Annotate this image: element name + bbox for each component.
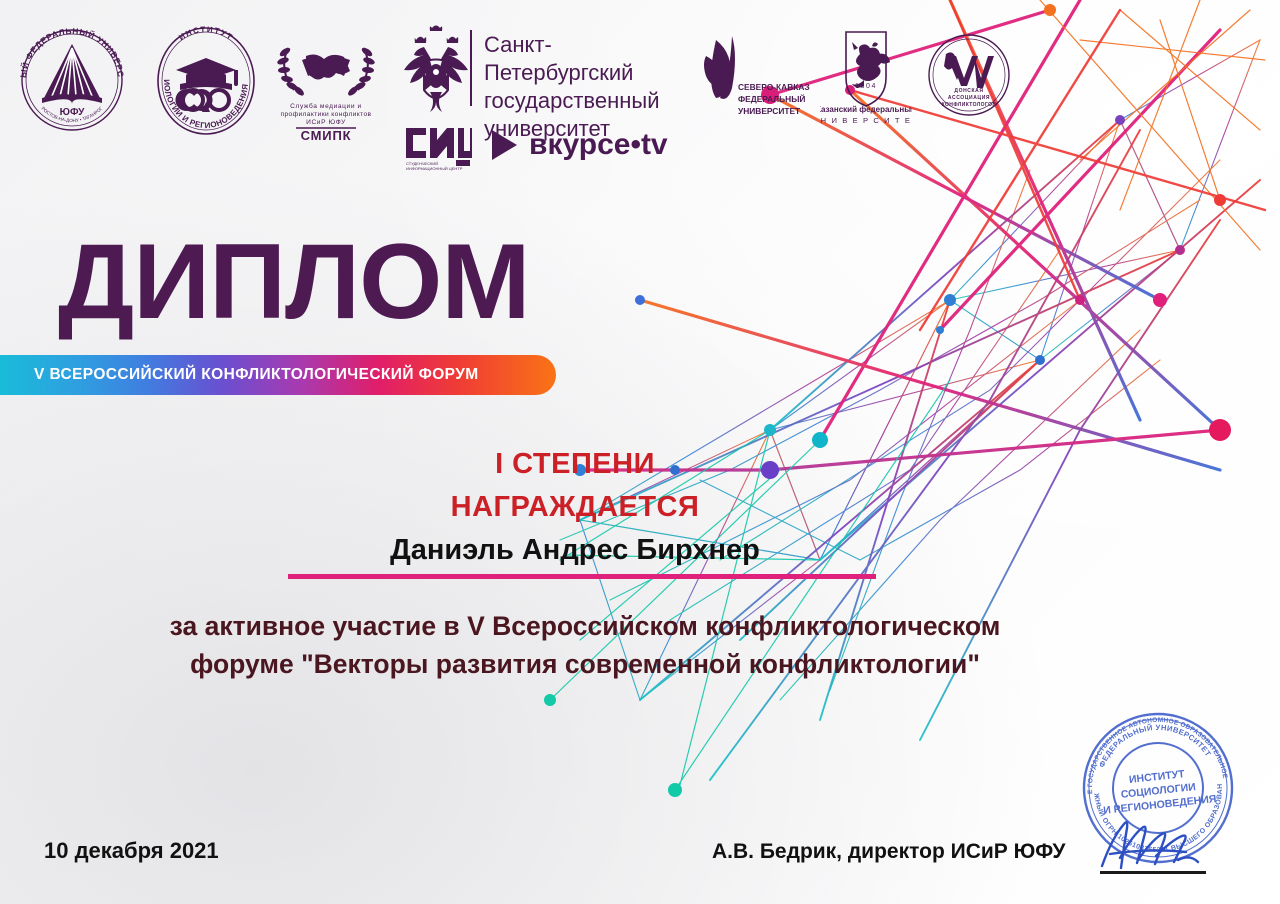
svg-text:24: 24	[442, 78, 448, 84]
svg-text:ЮФУ: ЮФУ	[60, 107, 85, 118]
award-reason-line-2: форуме "Векторы развития современной кон…	[30, 646, 1140, 684]
logo-sfedu: ЮФУ ЮЖНЫЙ ФЕДЕРАЛЬНЫЙ УНИВЕРСИТЕТ РОСТОВ…	[12, 22, 132, 140]
svg-text:Служба медиации и: Служба медиации и	[290, 102, 362, 110]
awarded-label: НАГРАЖДАЕТСЯ	[0, 491, 1150, 524]
kpfu-year: 1804	[855, 83, 877, 90]
play-icon	[492, 130, 517, 160]
svg-text:Казанский федеральный: Казанский федеральный	[820, 105, 912, 114]
svg-text:ИСиР ЮФУ: ИСиР ЮФУ	[306, 119, 346, 126]
svg-text:СМИПК: СМИПК	[301, 128, 352, 142]
svg-text:КОНФЛИКТОЛОГОВ: КОНФЛИКТОЛОГОВ	[942, 102, 997, 108]
logo-kpfu: 1804 Казанский федеральный У Н И В Е Р С…	[820, 28, 912, 128]
logo-ncfu: СЕВЕРО-КАВКАЗСКИЙ ФЕДЕРАЛЬНЫЙ УНИВЕРСИТЕ…	[698, 32, 810, 122]
svg-text:У Н И В Е Р С И Т Е Т: У Н И В Е Р С И Т Е Т	[820, 116, 912, 125]
svg-text:АССОЦИАЦИЯ: АССОЦИАЦИЯ	[948, 95, 990, 101]
logo-sic: СТУДЕНЧЕСКИЙ ИНФОРМАЦИОННЫЙ ЦЕНТР	[404, 126, 472, 172]
svg-text:УНИВЕРСИТЕТ: УНИВЕРСИТЕТ	[738, 106, 801, 116]
logo-smipk: Служба медиации и профилактики конфликто…	[266, 30, 386, 142]
svg-text:ИНСТИТУТ: ИНСТИТУТ	[177, 25, 235, 42]
signatory-name: А.В. Бедрик, директор ИСиР ЮФУ	[712, 840, 1065, 864]
recipient-underline	[288, 574, 876, 579]
spbu-line-2: государственный	[484, 87, 700, 115]
forum-ribbon-text: V ВСЕРОССИЙСКИЙ КОНФЛИКТОЛОГИЧЕСКИЙ ФОРУ…	[0, 366, 479, 384]
recipient-name: Даниэль Андрес Бирхнер	[0, 534, 1150, 567]
logo-dak: ДОНСКАЯ АССОЦИАЦИЯ КОНФЛИКТОЛОГОВ	[926, 32, 1012, 118]
logo-spbu-divider	[470, 30, 472, 106]
certificate-page: ЮФУ ЮЖНЫЙ ФЕДЕРАЛЬНЫЙ УНИВЕРСИТЕТ РОСТОВ…	[0, 0, 1280, 904]
partner-logos: ЮФУ ЮЖНЫЙ ФЕДЕРАЛЬНЫЙ УНИВЕРСИТЕТ РОСТОВ…	[0, 0, 700, 180]
vkurse-text: вкурсе•tv	[529, 128, 668, 162]
logo-vkurse: вкурсе•tv	[492, 128, 668, 162]
handwritten-signature	[1090, 800, 1230, 880]
issue-date: 10 декабря 2021	[44, 838, 219, 864]
award-reason-line-1: за активное участие в V Всероссийском ко…	[30, 608, 1140, 646]
svg-text:СЕВЕРО-КАВКАЗСКИЙ: СЕВЕРО-КАВКАЗСКИЙ	[738, 81, 810, 92]
svg-text:профилактики конфликтов: профилактики конфликтов	[281, 111, 372, 118]
degree-label: I СТЕПЕНИ	[0, 448, 1150, 481]
forum-ribbon: V ВСЕРОССИЙСКИЙ КОНФЛИКТОЛОГИЧЕСКИЙ ФОРУ…	[0, 355, 556, 395]
logo-spbu: 17 24	[398, 20, 474, 120]
svg-text:ДОНСКАЯ: ДОНСКАЯ	[954, 88, 983, 94]
page-title: ДИПЛОМ	[58, 228, 529, 335]
logo-spbu-text: Санкт-Петербургский государственный унив…	[484, 31, 700, 144]
spbu-line-1: Санкт-Петербургский	[484, 31, 700, 87]
logo-isir: ИНСТИТУТ СОЦИОЛОГИИ И РЕГИОНОВЕДЕНИЯ ЮФУ	[150, 22, 262, 140]
svg-text:ИНФОРМАЦИОННЫЙ ЦЕНТР: ИНФОРМАЦИОННЫЙ ЦЕНТР	[406, 166, 463, 171]
svg-text:ФЕДЕРАЛЬНЫЙ: ФЕДЕРАЛЬНЫЙ	[738, 93, 805, 104]
award-reason: за активное участие в V Всероссийском ко…	[30, 608, 1140, 683]
svg-text:17: 17	[427, 78, 433, 84]
